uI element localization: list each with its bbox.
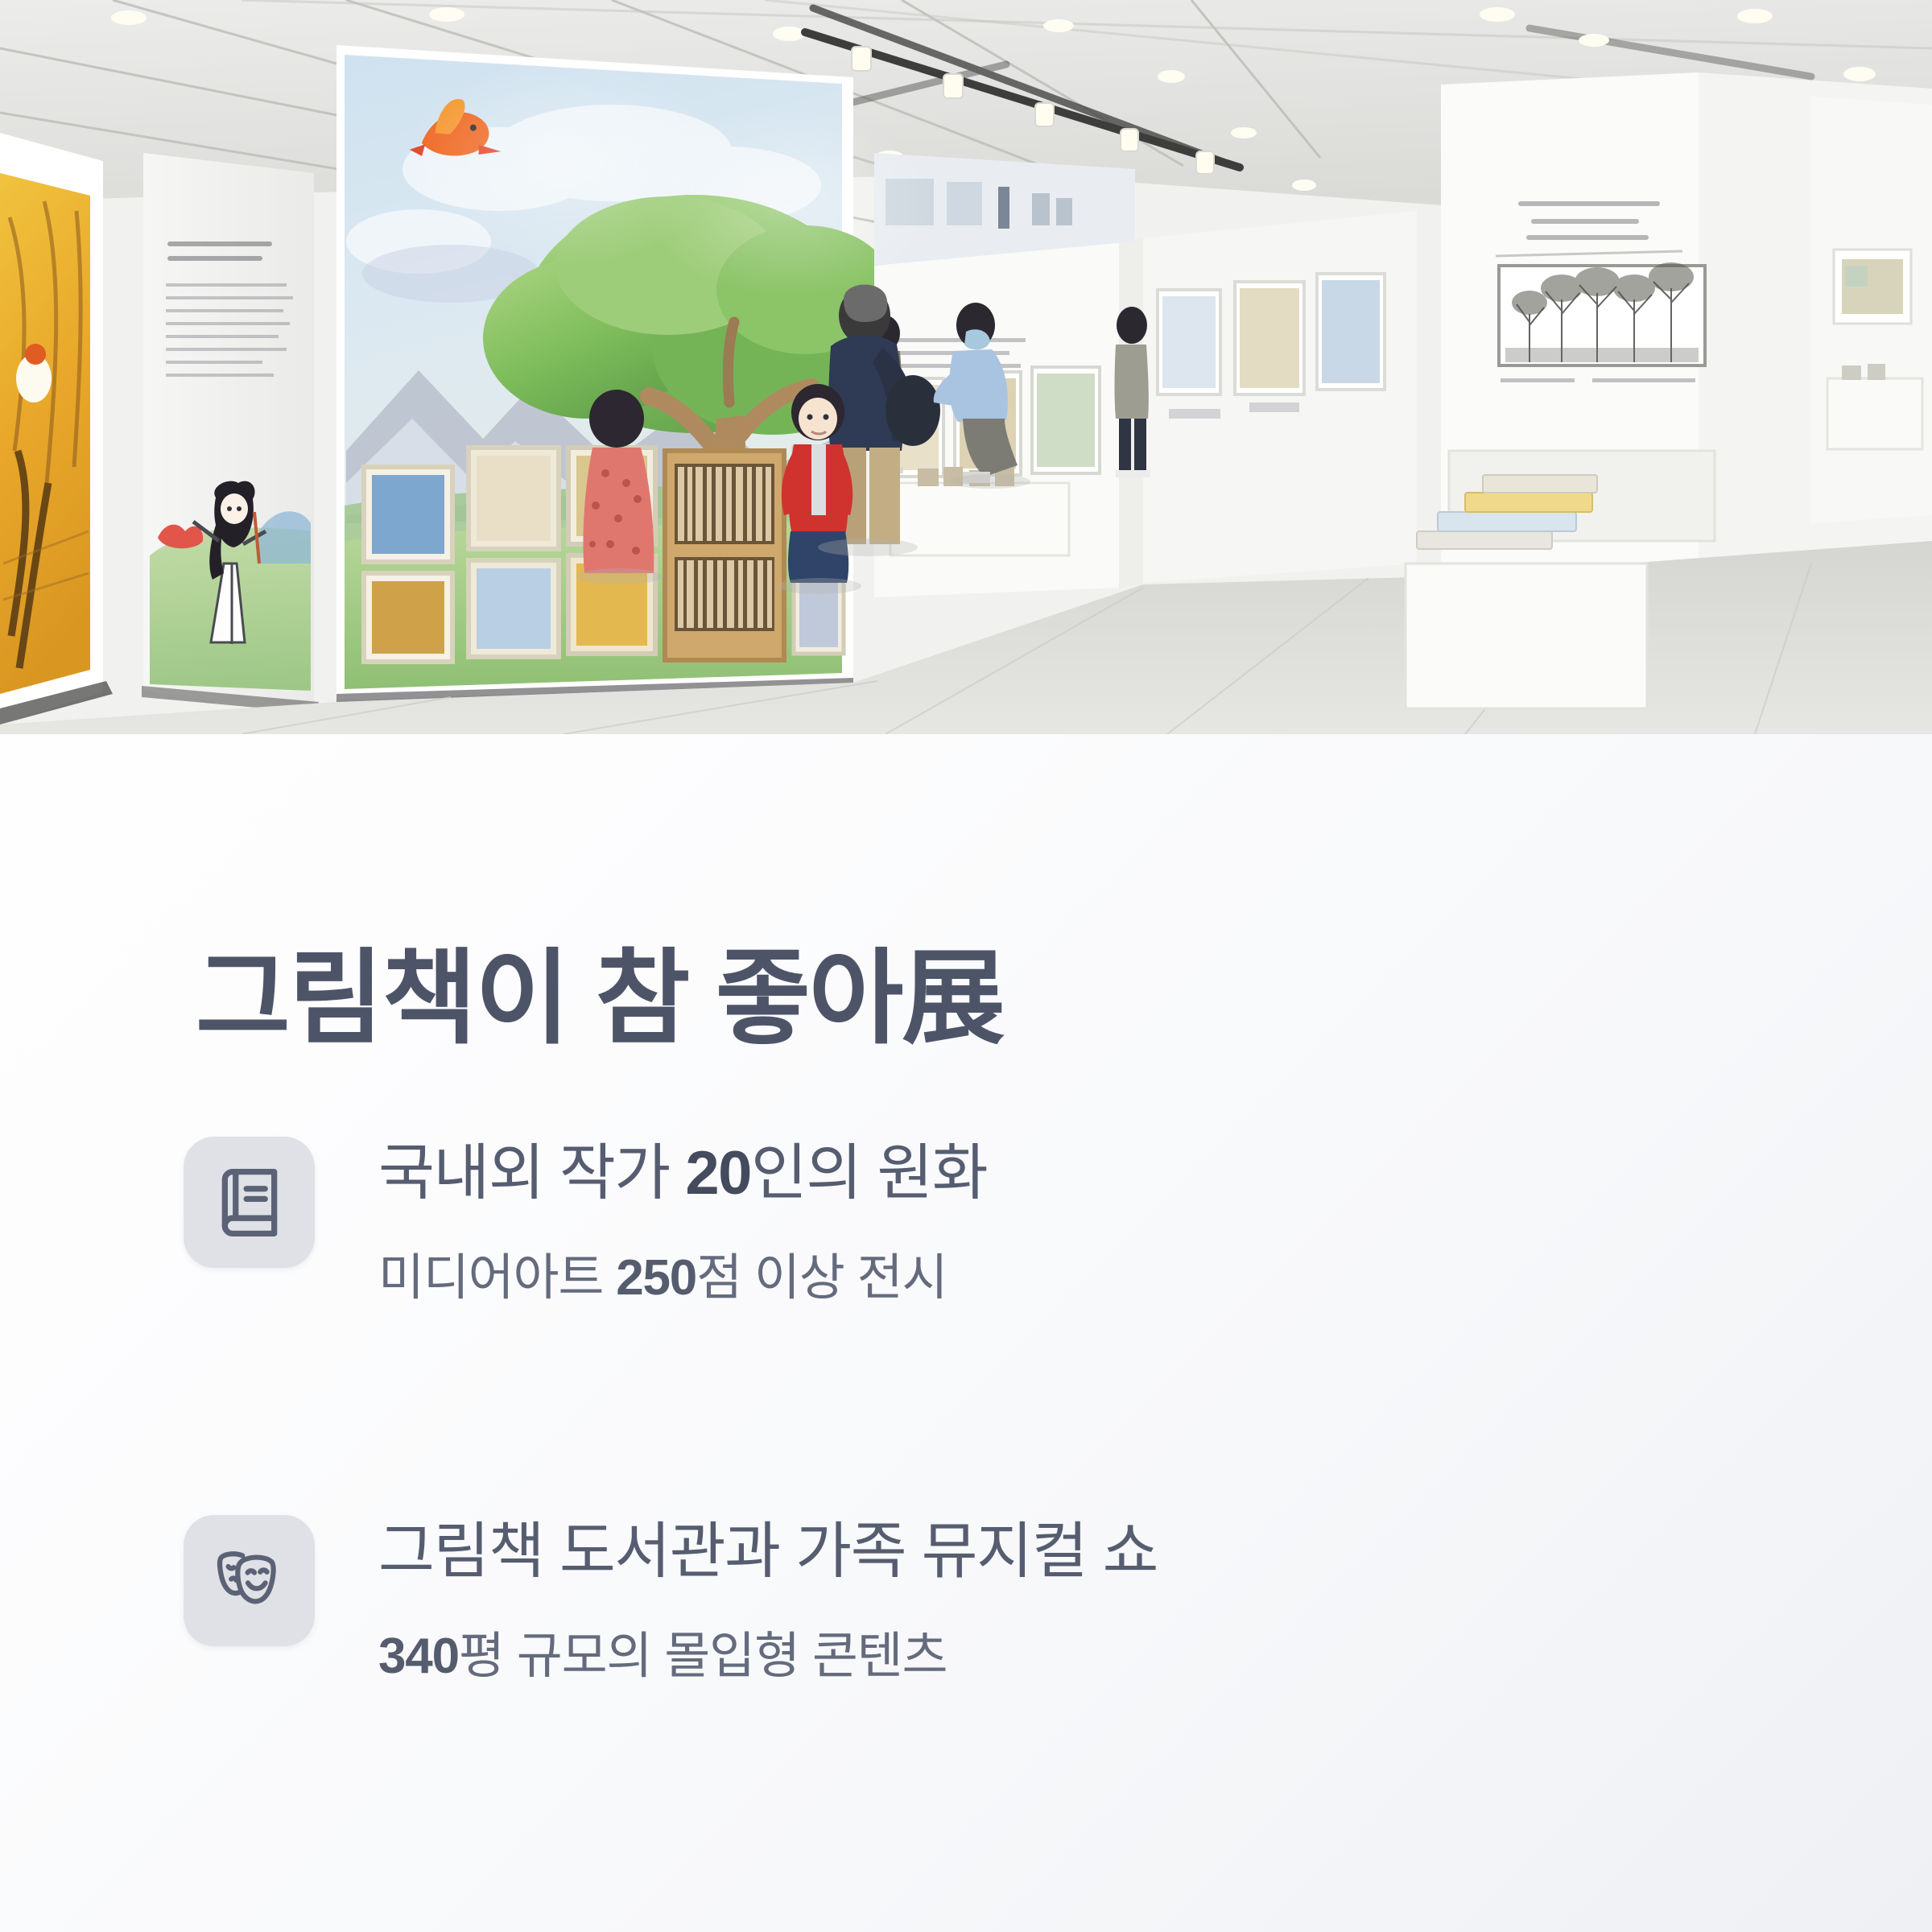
feature-1-heading-number: 20 <box>685 1139 751 1207</box>
feature-2-sub-suffix: 평 규모의 몰입형 콘텐츠 <box>459 1629 947 1684</box>
info-section: 그림책이 참 좋아展 국내외 작가 20인의 원화 미디어아트 250점 이상 … <box>0 734 1932 1932</box>
feature-2-sub-number: 340 <box>378 1629 459 1684</box>
exhibition-hall-photo <box>0 0 1932 734</box>
feature-2-heading: 그림책 도서관과 가족 뮤지컬 쇼 <box>378 1515 1747 1590</box>
feature-1-heading-prefix: 국내외 작가 <box>378 1139 685 1207</box>
feature-2-heading-prefix: 그림책 도서관과 가족 뮤지컬 쇼 <box>378 1517 1158 1586</box>
book-icon <box>184 1137 315 1268</box>
feature-1-sub-number: 250 <box>616 1250 696 1306</box>
page-title: 그림책이 참 좋아展 <box>196 939 1003 1058</box>
feature-2-text: 그림책 도서관과 가족 뮤지컬 쇼 340평 규모의 몰입형 콘텐츠 <box>378 1515 1747 1687</box>
child-pink-dress <box>583 390 654 573</box>
feature-1-heading-suffix: 인의 원화 <box>751 1139 987 1207</box>
feature-1-sub-suffix: 점 이상 전시 <box>696 1250 947 1306</box>
feature-2-subtext: 340평 규모의 몰입형 콘텐츠 <box>378 1625 1747 1688</box>
theater-masks-icon <box>184 1515 315 1646</box>
promo-card: 그림책이 참 좋아展 국내외 작가 20인의 원화 미디어아트 250점 이상 … <box>0 0 1932 1932</box>
hall-illustration <box>0 0 1932 734</box>
book-icon-glyph <box>213 1166 287 1240</box>
feature-1-sub-prefix: 미디어아트 <box>378 1250 616 1306</box>
theater-masks-icon-glyph <box>211 1542 288 1620</box>
feature-1-subtext: 미디어아트 250점 이상 전시 <box>378 1247 1747 1310</box>
feature-1-text: 국내외 작가 20인의 원화 미디어아트 250점 이상 전시 <box>378 1137 1747 1309</box>
feature-1-heading: 국내외 작가 20인의 원화 <box>378 1137 1747 1212</box>
